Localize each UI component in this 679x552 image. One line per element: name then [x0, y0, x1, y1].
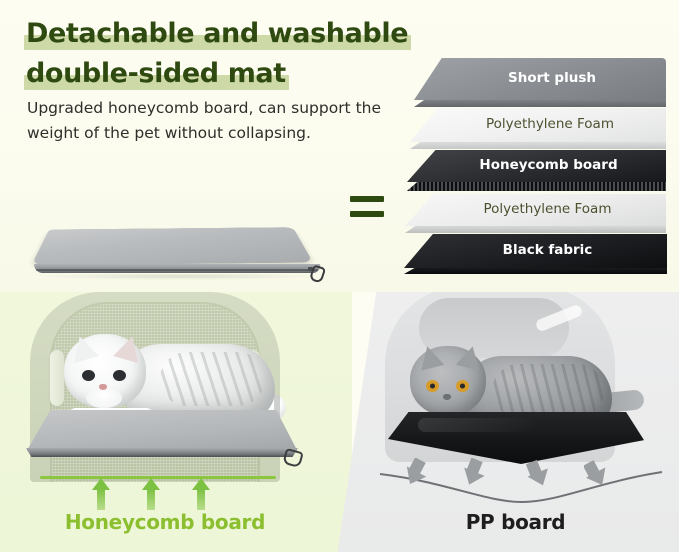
cat-head	[410, 346, 486, 416]
layer-label: Polyethylene Foam	[460, 203, 612, 217]
mat-top-surface	[31, 227, 313, 265]
headline-line-1: Detachable and washable	[26, 14, 408, 54]
cat-eye-right	[113, 370, 126, 381]
comparison-label-left: Honeycomb board	[0, 510, 330, 534]
layer-face: Short plush	[414, 58, 666, 100]
product-mat-image	[14, 178, 334, 278]
layer-edge	[404, 268, 667, 274]
layer-black-fabric: Black fabric	[404, 234, 667, 274]
arrow-shape	[404, 458, 430, 488]
arrow-head	[142, 478, 160, 490]
arrow-up-icon	[142, 478, 160, 510]
cat-ear-right	[456, 343, 485, 370]
layer-face: Polyethylene Foam	[410, 108, 666, 142]
arrow-down-icon	[462, 458, 488, 488]
honeycomb-mat-flat	[26, 410, 298, 462]
equals-bar-top	[350, 196, 384, 202]
headline-line-2: double-sided mat	[26, 54, 286, 94]
top-section: Detachable and washable double-sided mat…	[0, 0, 679, 292]
carrier-highlight	[534, 303, 583, 332]
pressure-arrows-down	[404, 458, 624, 498]
support-arrows-up	[92, 478, 232, 512]
cat-nose	[99, 384, 107, 390]
layer-face: Polyethylene Foam	[405, 194, 666, 226]
arrow-head	[92, 478, 110, 490]
equals-icon	[350, 196, 384, 226]
cat-ear-left	[67, 333, 99, 363]
layer-honeycomb-board: Honeycomb board	[407, 150, 666, 191]
page-title: Detachable and washable double-sided mat	[26, 14, 426, 94]
layer-polyethylene-foam-top: Polyethylene Foam	[410, 108, 666, 149]
comparison-label-right: PP board	[352, 510, 679, 534]
arrow-up-icon	[92, 478, 110, 510]
layer-label: Black fabric	[479, 244, 593, 258]
arrow-stem	[147, 489, 155, 510]
cat-nose	[443, 394, 451, 400]
cat-ear-left	[416, 343, 445, 370]
layer-label: Short plush	[484, 72, 596, 86]
arrow-head	[192, 478, 210, 490]
layer-short-plush: Short plush	[414, 58, 666, 107]
layer-stack-diagram: Short plush Polyethylene Foam Honeycomb …	[404, 58, 672, 274]
layer-polyethylene-foam-bottom: Polyethylene Foam	[405, 194, 666, 233]
arrow-shape	[584, 458, 610, 488]
comparison-section: Honeycomb board	[0, 292, 679, 552]
arrow-down-icon	[584, 458, 610, 488]
layer-face: Honeycomb board	[407, 150, 666, 182]
cat-muzzle	[86, 388, 122, 408]
zipper-pull-icon	[282, 448, 304, 468]
subcopy-text: Upgraded honeycomb board, can support th…	[27, 96, 387, 146]
mat-gloss-highlight	[418, 418, 538, 432]
headline-line-1-text: Detachable and washable	[26, 18, 408, 49]
headline-line-2-text: double-sided mat	[26, 58, 286, 89]
arrow-stem	[197, 489, 205, 510]
arrow-shape	[462, 458, 488, 488]
mat-rim	[26, 448, 298, 457]
layer-edge	[414, 100, 666, 107]
zipper-pull-icon	[308, 266, 324, 279]
mat-drop-shadow	[40, 274, 318, 280]
layer-face: Black fabric	[404, 234, 667, 268]
layer-edge	[410, 142, 666, 149]
mat-surface	[26, 410, 298, 452]
cat-head	[64, 334, 146, 408]
arrow-down-icon	[404, 458, 430, 488]
cat-eye-left	[426, 380, 439, 392]
cat-eye-right	[456, 380, 469, 392]
cat-ear-right	[113, 333, 145, 363]
infographic-page: Detachable and washable double-sided mat…	[0, 0, 679, 552]
arrow-shape	[526, 458, 552, 488]
layer-edge	[405, 226, 666, 233]
arrow-up-icon	[192, 478, 210, 510]
layer-label: Honeycomb board	[455, 159, 617, 173]
layer-label: Polyethylene Foam	[462, 118, 614, 132]
cat-eye-left	[82, 370, 95, 381]
arrow-stem	[97, 489, 105, 510]
arrow-down-icon	[526, 458, 552, 488]
comparison-panel-left: Honeycomb board	[0, 292, 352, 552]
mat-seam-line	[36, 269, 318, 271]
equals-bar-bottom	[350, 211, 384, 217]
layer-corrugated-edge	[407, 182, 666, 191]
